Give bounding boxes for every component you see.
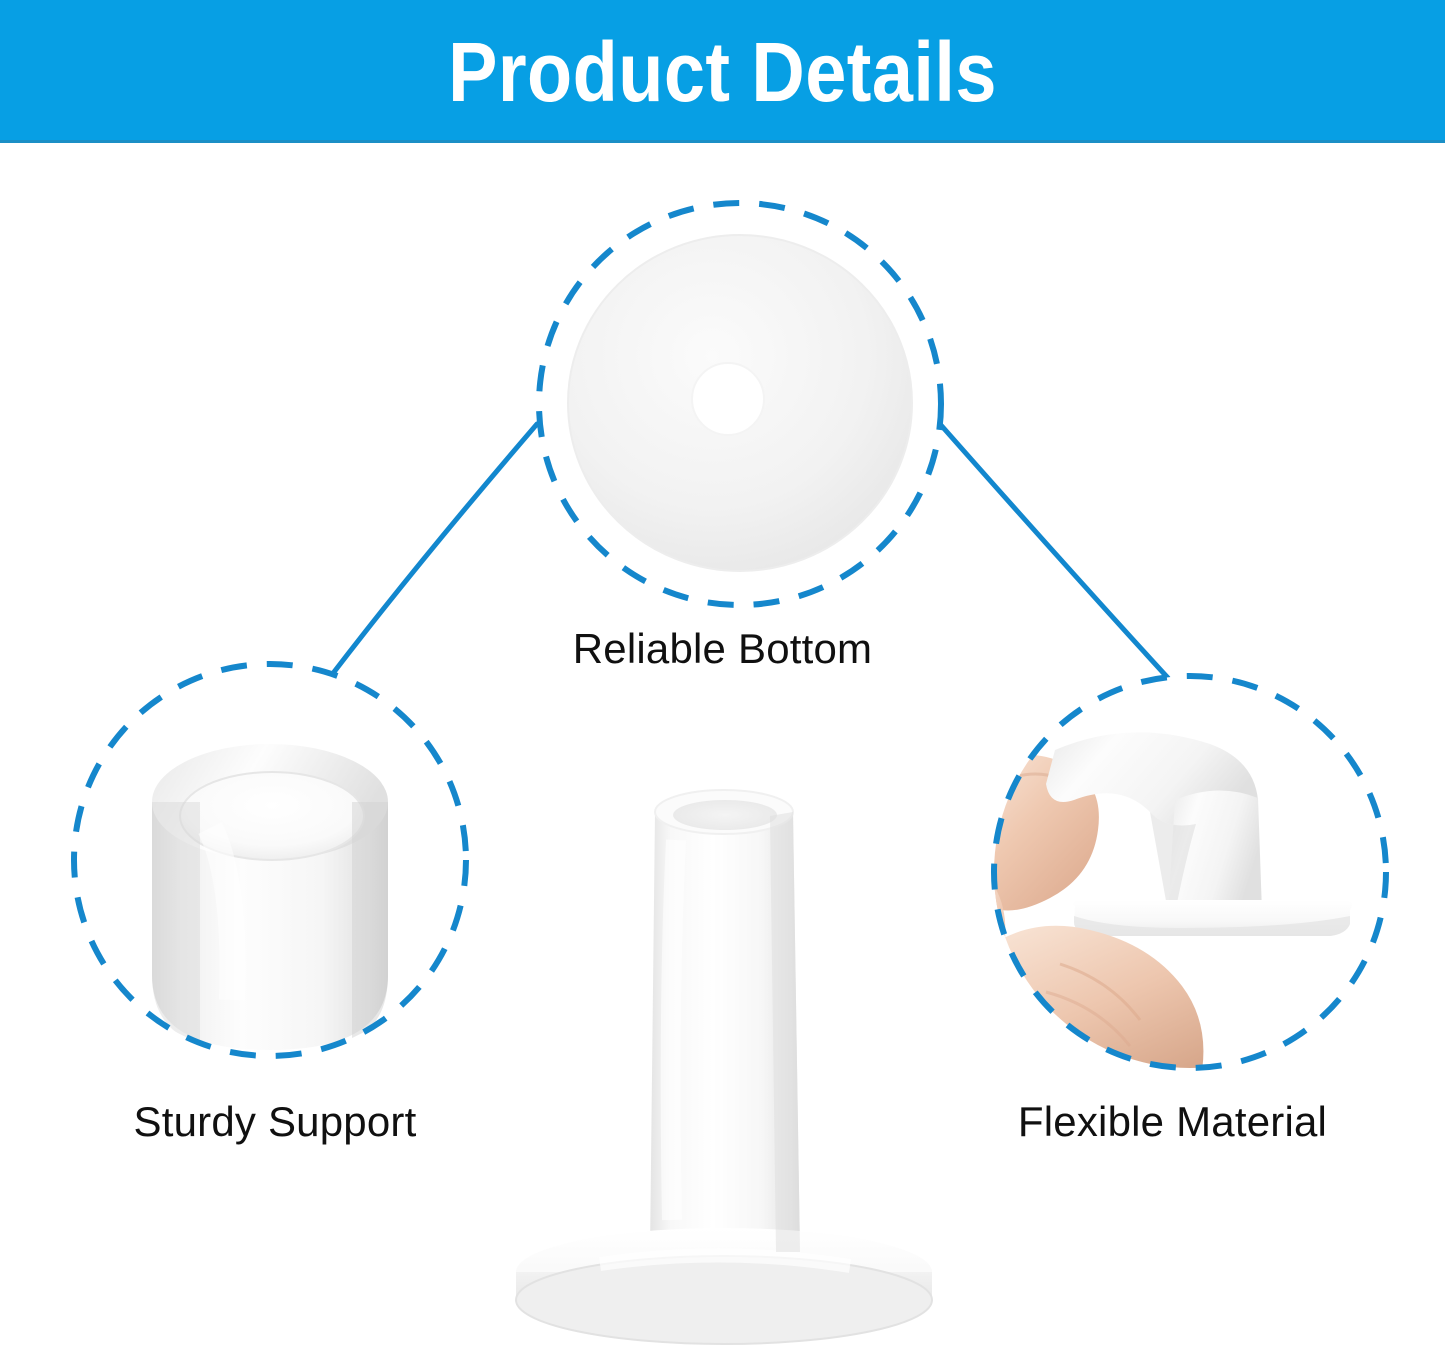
hollow-cylinder-icon: [152, 744, 388, 1050]
callout-label-sturdy-support: Sturdy Support: [0, 1098, 550, 1146]
callout-label-reliable-bottom: Reliable Bottom: [0, 625, 1445, 673]
infographic-canvas: [0, 0, 1445, 1353]
callout-label-flexible-material: Flexible Material: [900, 1098, 1445, 1146]
disc-with-center-hole-icon: [568, 235, 912, 571]
product-details-infographic: Product Details: [0, 0, 1445, 1353]
callout-flexible-material[interactable]: [980, 672, 1390, 1082]
main-product-rubber-golf-tee[interactable]: [516, 790, 932, 1344]
callout-reliable-bottom[interactable]: [539, 203, 941, 605]
callout-sturdy-support[interactable]: [74, 664, 466, 1056]
